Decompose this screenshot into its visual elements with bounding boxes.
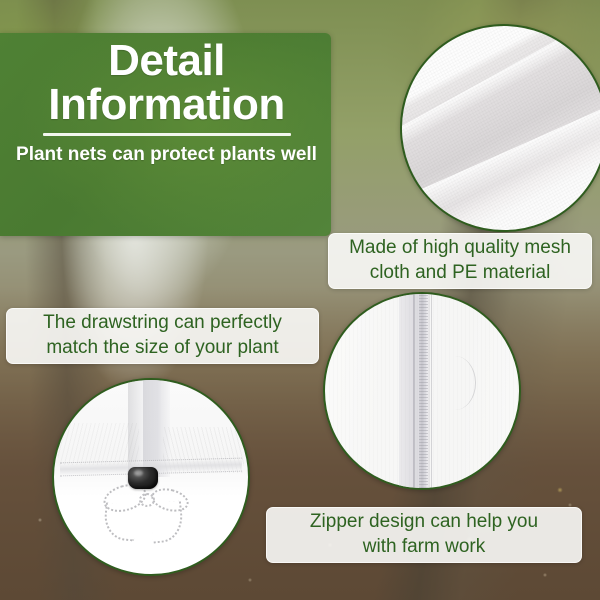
page-title-line2: Information [48, 83, 284, 126]
cord-knot [139, 493, 155, 507]
detail-information-panel: Detail Information Plant nets can protec… [0, 33, 331, 236]
drawstring-photo [52, 378, 250, 576]
caption-zipper-line2: with farm work [276, 535, 572, 560]
page-title-line1: Detail [48, 39, 284, 82]
caption-drawstring-line1: The drawstring can perfectly [16, 311, 309, 336]
cord-tail-left [103, 503, 139, 542]
zipper-photo [323, 292, 521, 490]
mesh-weave-texture [402, 26, 600, 230]
cord-tail-right [149, 501, 185, 544]
caption-mesh-line1: Made of high quality mesh [338, 236, 582, 261]
caption-mesh-cloth: Made of high quality mesh cloth and PE m… [328, 233, 592, 289]
product-detail-infographic: Detail Information Plant nets can protec… [0, 0, 600, 600]
caption-drawstring: The drawstring can perfectly match the s… [6, 308, 319, 364]
drawstring-toggle [128, 467, 158, 489]
page-title: Detail Information [48, 39, 284, 126]
page-subtitle-line2: plants well [220, 144, 317, 165]
caption-zipper: Zipper design can help you with farm wor… [266, 507, 582, 563]
fabric-weave-texture [325, 294, 519, 488]
toggle-highlight [134, 470, 143, 476]
mesh-cloth-photo [400, 24, 600, 232]
page-subtitle: Plant nets can protect plants well [16, 142, 317, 168]
caption-zipper-line1: Zipper design can help you [276, 510, 572, 535]
caption-drawstring-line2: match the size of your plant [16, 336, 309, 361]
caption-mesh-line2: cloth and PE material [338, 261, 582, 286]
page-subtitle-line1: Plant nets can protect [16, 144, 215, 165]
net-mesh-left [58, 423, 139, 466]
title-divider [43, 133, 291, 136]
